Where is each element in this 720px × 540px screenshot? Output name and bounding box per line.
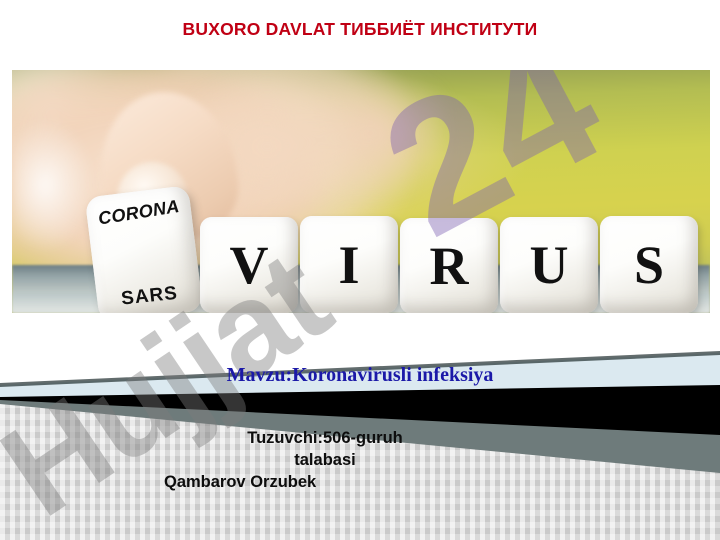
author-line-1: Tuzuvchi:506-guruh xyxy=(160,428,490,450)
bottom-decoration xyxy=(0,313,720,540)
die-v-letter: V xyxy=(230,238,269,292)
die-u: U xyxy=(500,217,598,313)
die-s: S xyxy=(600,216,698,313)
die-r-letter: R xyxy=(430,239,469,293)
die-sars-front-label: SARS xyxy=(120,283,179,311)
diagonal-wedges xyxy=(0,313,720,540)
die-corona-sars: CORONA SARS xyxy=(85,185,204,313)
author-line-3: Qambarov Orzubek xyxy=(160,472,490,494)
die-r: R xyxy=(400,218,498,313)
author-line-2: talabasi xyxy=(160,450,490,472)
author-block: Tuzuvchi:506-guruh talabasi Qambarov Orz… xyxy=(160,428,490,494)
die-i-letter: I xyxy=(338,238,359,292)
topic-line: Mavzu:Koronavirusli infeksiya xyxy=(0,364,720,387)
die-s-letter: S xyxy=(634,238,664,292)
die-i: I xyxy=(300,216,398,313)
virus-dice-photo: CORONA SARS V I R U S 24 xyxy=(12,70,710,313)
die-corona-top-label: CORONA xyxy=(97,196,181,230)
page-title: BUXORO DAVLAT ТИББИЁТ ИНСТИТУТИ xyxy=(0,19,720,40)
die-u-letter: U xyxy=(530,238,569,292)
presentation-slide: BUXORO DAVLAT ТИББИЁТ ИНСТИТУТИ CORONA S… xyxy=(0,0,720,540)
die-v: V xyxy=(200,217,298,313)
